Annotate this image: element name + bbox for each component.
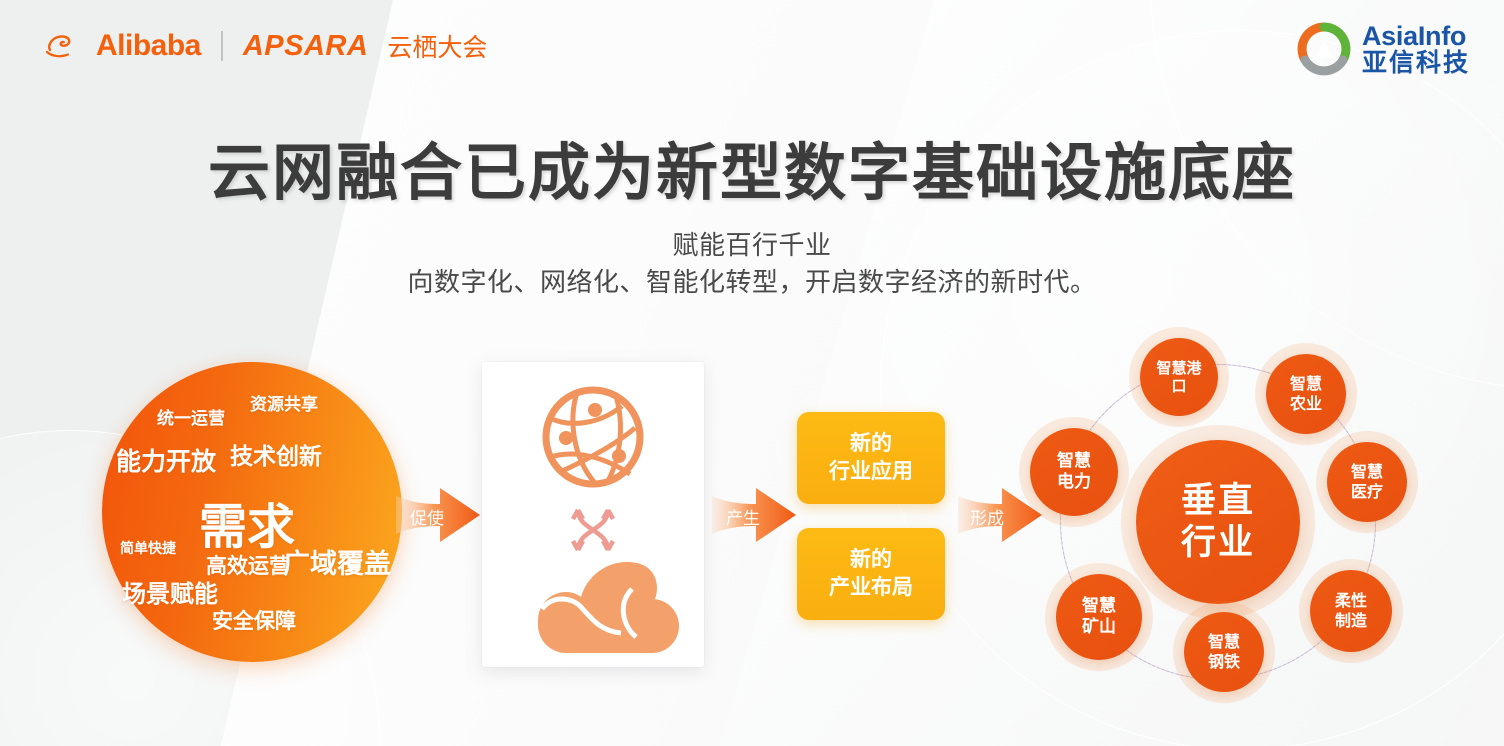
asiainfo-cn-label: 亚信科技 <box>1362 48 1470 77</box>
cloud-network-card <box>482 362 704 667</box>
asiainfo-tricolor-ring-icon <box>1297 22 1351 76</box>
cluster-node[interactable]: 智慧港口 <box>1140 338 1218 416</box>
outcome-box-industry-application[interactable]: 新的 行业应用 <box>797 412 945 504</box>
subtitle-line-2: 向数字化、网络化、智能化转型，开启数字经济的新时代。 <box>407 268 1096 298</box>
asiainfo-logo: AsiaInfo 亚信科技 <box>1297 22 1470 76</box>
cluster-node-label: 智慧农业 <box>1290 374 1322 413</box>
network-globe-icon <box>546 390 640 484</box>
vertical-industry-cluster: 垂直 行业 智慧港口智慧农业智慧医疗柔性制造智慧钢铁智慧矿山智慧电力 <box>1018 322 1448 722</box>
arrow-chansheng: 产生 <box>712 482 796 553</box>
wordcloud-word: 场景赋能 <box>122 574 218 609</box>
alibaba-apsara-logo: Alibaba APSARA 云栖大会 <box>44 28 487 64</box>
arrow-xingcheng-label: 形成 <box>970 504 1004 529</box>
arrow-chansheng-label: 产生 <box>726 504 760 529</box>
wordcloud-word: 统一运营 <box>157 404 225 429</box>
apsara-chinese-label: 云栖大会 <box>387 28 487 64</box>
alibaba-smile-icon <box>44 30 86 62</box>
cluster-node[interactable]: 智慧医疗 <box>1327 442 1407 522</box>
outcome-box-2-line-1: 新的 <box>850 546 892 574</box>
cluster-node[interactable]: 智慧农业 <box>1266 354 1346 434</box>
slide-canvas: Alibaba APSARA 云栖大会 AsiaInfo 亚信科技 云网融合已成… <box>0 0 1504 746</box>
cluster-node[interactable]: 智慧矿山 <box>1056 574 1142 660</box>
wordcloud-word: 技术创新 <box>230 437 322 471</box>
alibaba-wordmark: Alibaba <box>96 29 201 63</box>
cluster-node-label: 智慧矿山 <box>1082 596 1116 637</box>
cluster-node-label: 智慧港口 <box>1156 359 1201 396</box>
cluster-node[interactable]: 智慧电力 <box>1030 428 1118 516</box>
cloud-network-graphic <box>482 362 704 667</box>
asiainfo-en-label: AsiaInfo <box>1362 21 1466 51</box>
cluster-node[interactable]: 智慧钢铁 <box>1184 612 1264 692</box>
cloud-icon <box>538 562 679 653</box>
arrow-cuishi: 促使 <box>396 482 480 553</box>
slide-header: Alibaba APSARA 云栖大会 AsiaInfo 亚信科技 <box>0 0 1504 100</box>
wordcloud-word: 能力开放 <box>116 442 216 478</box>
wordcloud-word: 简单快捷 <box>120 538 176 558</box>
cluster-node[interactable]: 柔性制造 <box>1310 570 1392 652</box>
wordcloud-word: 资源共享 <box>250 390 318 415</box>
cluster-center-line-1: 垂直 <box>1181 480 1255 522</box>
wordcloud-word: 广域覆盖 <box>283 542 391 581</box>
cluster-node-label: 智慧电力 <box>1057 451 1091 492</box>
wordcloud-word: 需求 <box>199 487 295 557</box>
exchange-arrows-icon <box>573 510 613 550</box>
cluster-node-label: 柔性制造 <box>1335 591 1367 630</box>
outcome-box-1-line-2: 行业应用 <box>829 458 913 486</box>
subtitle-line-1: 赋能百行千业 <box>672 231 831 261</box>
cluster-node-label: 智慧钢铁 <box>1208 632 1240 671</box>
outcome-box-2-line-2: 产业布局 <box>829 574 913 602</box>
cluster-center-line-2: 行业 <box>1181 522 1255 564</box>
wordcloud-word: 高效运营 <box>206 550 290 580</box>
page-subtitle: 赋能百行千业 向数字化、网络化、智能化转型，开启数字经济的新时代。 <box>0 228 1504 302</box>
cluster-center-node[interactable]: 垂直 行业 <box>1136 440 1300 604</box>
outcome-box-1-line-1: 新的 <box>850 430 892 458</box>
demand-wordcloud: 统一运营资源共享能力开放技术创新需求简单快捷高效运营广域覆盖场景赋能安全保障 <box>102 362 402 662</box>
logo-divider <box>221 31 223 61</box>
wordcloud-word: 安全保障 <box>212 605 296 635</box>
outcome-box-industry-layout[interactable]: 新的 产业布局 <box>797 528 945 620</box>
cluster-node-label: 智慧医疗 <box>1351 462 1383 501</box>
apsara-wordmark: APSARA <box>243 30 368 63</box>
page-title: 云网融合已成为新型数字基础设施底座 <box>0 122 1504 212</box>
arrow-cuishi-label: 促使 <box>410 504 444 529</box>
